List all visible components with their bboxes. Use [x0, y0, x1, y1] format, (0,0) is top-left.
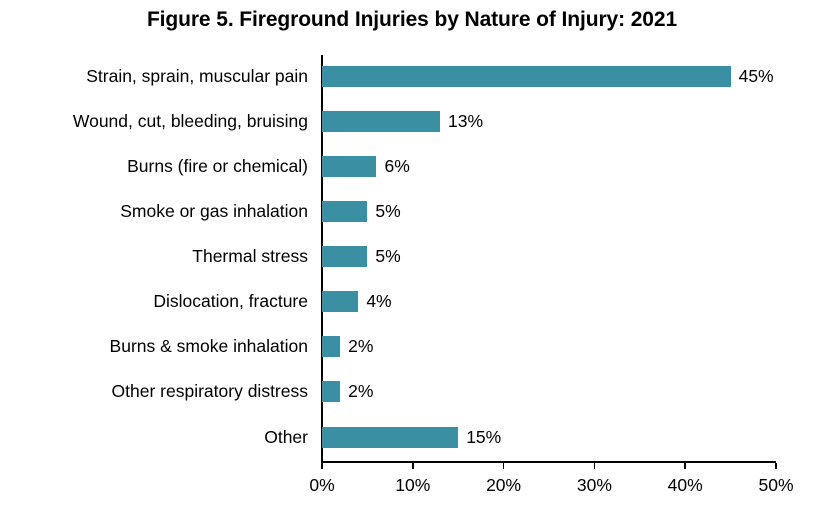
bar-value-label: 4%	[366, 291, 391, 312]
x-tick-mark	[594, 463, 596, 469]
bar-value-label: 5%	[375, 201, 400, 222]
x-tick-mark	[684, 463, 686, 469]
category-label: Strain, sprain, muscular pain	[0, 66, 308, 87]
bar	[322, 246, 367, 267]
bar-value-label: 45%	[739, 66, 774, 87]
bar	[322, 156, 376, 177]
bar-value-label: 6%	[384, 156, 409, 177]
bar	[322, 111, 440, 132]
category-label: Burns (fire or chemical)	[0, 156, 308, 177]
category-label: Dislocation, fracture	[0, 291, 308, 312]
category-label: Burns & smoke inhalation	[0, 336, 308, 357]
bar	[322, 66, 731, 87]
category-label: Other respiratory distress	[0, 381, 308, 402]
x-tick-mark	[775, 463, 777, 469]
bar-value-label: 2%	[348, 381, 373, 402]
bar	[322, 201, 367, 222]
category-label: Thermal stress	[0, 246, 308, 267]
bar-value-label: 13%	[448, 111, 483, 132]
bar	[322, 336, 340, 357]
x-tick-label: 30%	[577, 474, 612, 496]
bar-value-label: 5%	[375, 246, 400, 267]
category-label: Wound, cut, bleeding, bruising	[0, 111, 308, 132]
category-label: Other	[0, 427, 308, 448]
x-tick-mark	[412, 463, 414, 469]
x-tick-mark	[503, 463, 505, 469]
chart-title: Figure 5. Fireground Injuries by Nature …	[0, 8, 824, 32]
bar	[322, 427, 458, 448]
x-tick-label: 40%	[668, 474, 703, 496]
bar-chart: Figure 5. Fireground Injuries by Nature …	[0, 0, 824, 520]
x-tick-label: 10%	[395, 474, 430, 496]
bar	[322, 291, 358, 312]
x-axis-line	[321, 461, 776, 463]
x-tick-label: 50%	[758, 474, 793, 496]
bar-value-label: 2%	[348, 336, 373, 357]
bar-value-label: 15%	[466, 427, 501, 448]
x-tick-label: 20%	[486, 474, 521, 496]
x-tick-mark	[321, 463, 323, 469]
bar	[322, 381, 340, 402]
x-tick-label: 0%	[309, 474, 334, 496]
category-label: Smoke or gas inhalation	[0, 201, 308, 222]
